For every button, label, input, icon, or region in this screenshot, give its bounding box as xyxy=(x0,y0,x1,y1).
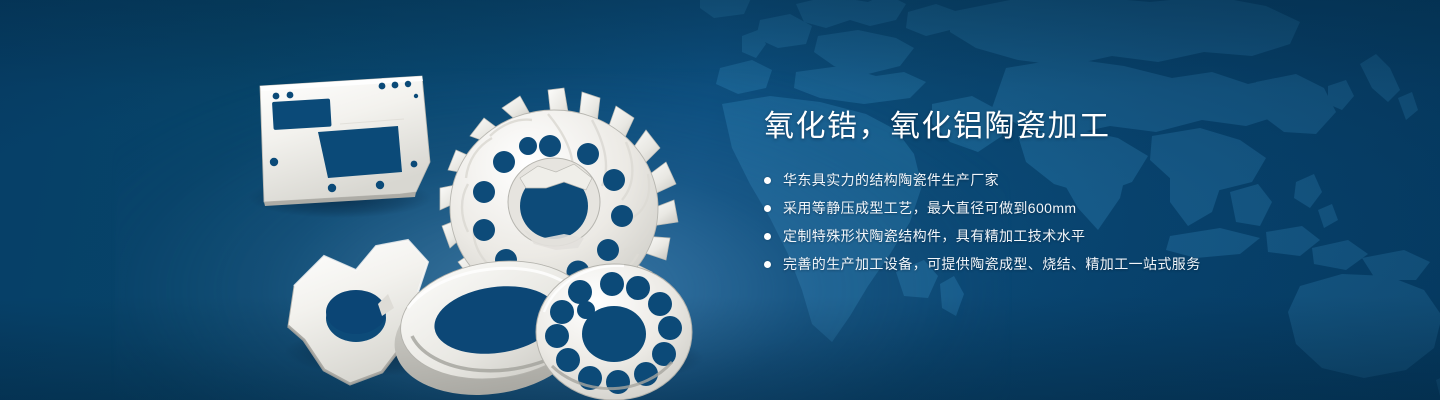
list-item: 完善的生产加工设备，可提供陶瓷成型、烧结、精加工一站式服务 xyxy=(764,254,1364,275)
bullet-dot-icon xyxy=(764,233,771,240)
feature-text: 华东具实力的结构陶瓷件生产厂家 xyxy=(783,170,999,191)
promo-banner: 氧化锆，氧化铝陶瓷加工 华东具实力的结构陶瓷件生产厂家 采用等静压成型工艺，最大… xyxy=(0,0,1440,400)
list-item: 定制特殊形状陶瓷结构件，具有精加工技术水平 xyxy=(764,226,1364,247)
feature-text: 采用等静压成型工艺，最大直径可做到600mm xyxy=(783,198,1076,219)
ceramic-mounting-plate xyxy=(260,76,430,206)
feature-text: 定制特殊形状陶瓷结构件，具有精加工技术水平 xyxy=(783,226,1085,247)
bullet-dot-icon xyxy=(764,177,771,184)
feature-list: 华东具实力的结构陶瓷件生产厂家 采用等静压成型工艺，最大直径可做到600mm 定… xyxy=(764,170,1364,275)
product-photo-cluster xyxy=(232,40,702,390)
list-item: 采用等静压成型工艺，最大直径可做到600mm xyxy=(764,198,1364,219)
page-title: 氧化锆，氧化铝陶瓷加工 xyxy=(764,108,1364,146)
bullet-dot-icon xyxy=(764,261,771,268)
ceramic-perforated-disc xyxy=(536,264,692,400)
list-item: 华东具实力的结构陶瓷件生产厂家 xyxy=(764,170,1364,191)
bullet-dot-icon xyxy=(764,205,771,212)
feature-text: 完善的生产加工设备，可提供陶瓷成型、烧结、精加工一站式服务 xyxy=(783,254,1201,275)
marketing-copy: 氧化锆，氧化铝陶瓷加工 华东具实力的结构陶瓷件生产厂家 采用等静压成型工艺，最大… xyxy=(764,108,1364,275)
